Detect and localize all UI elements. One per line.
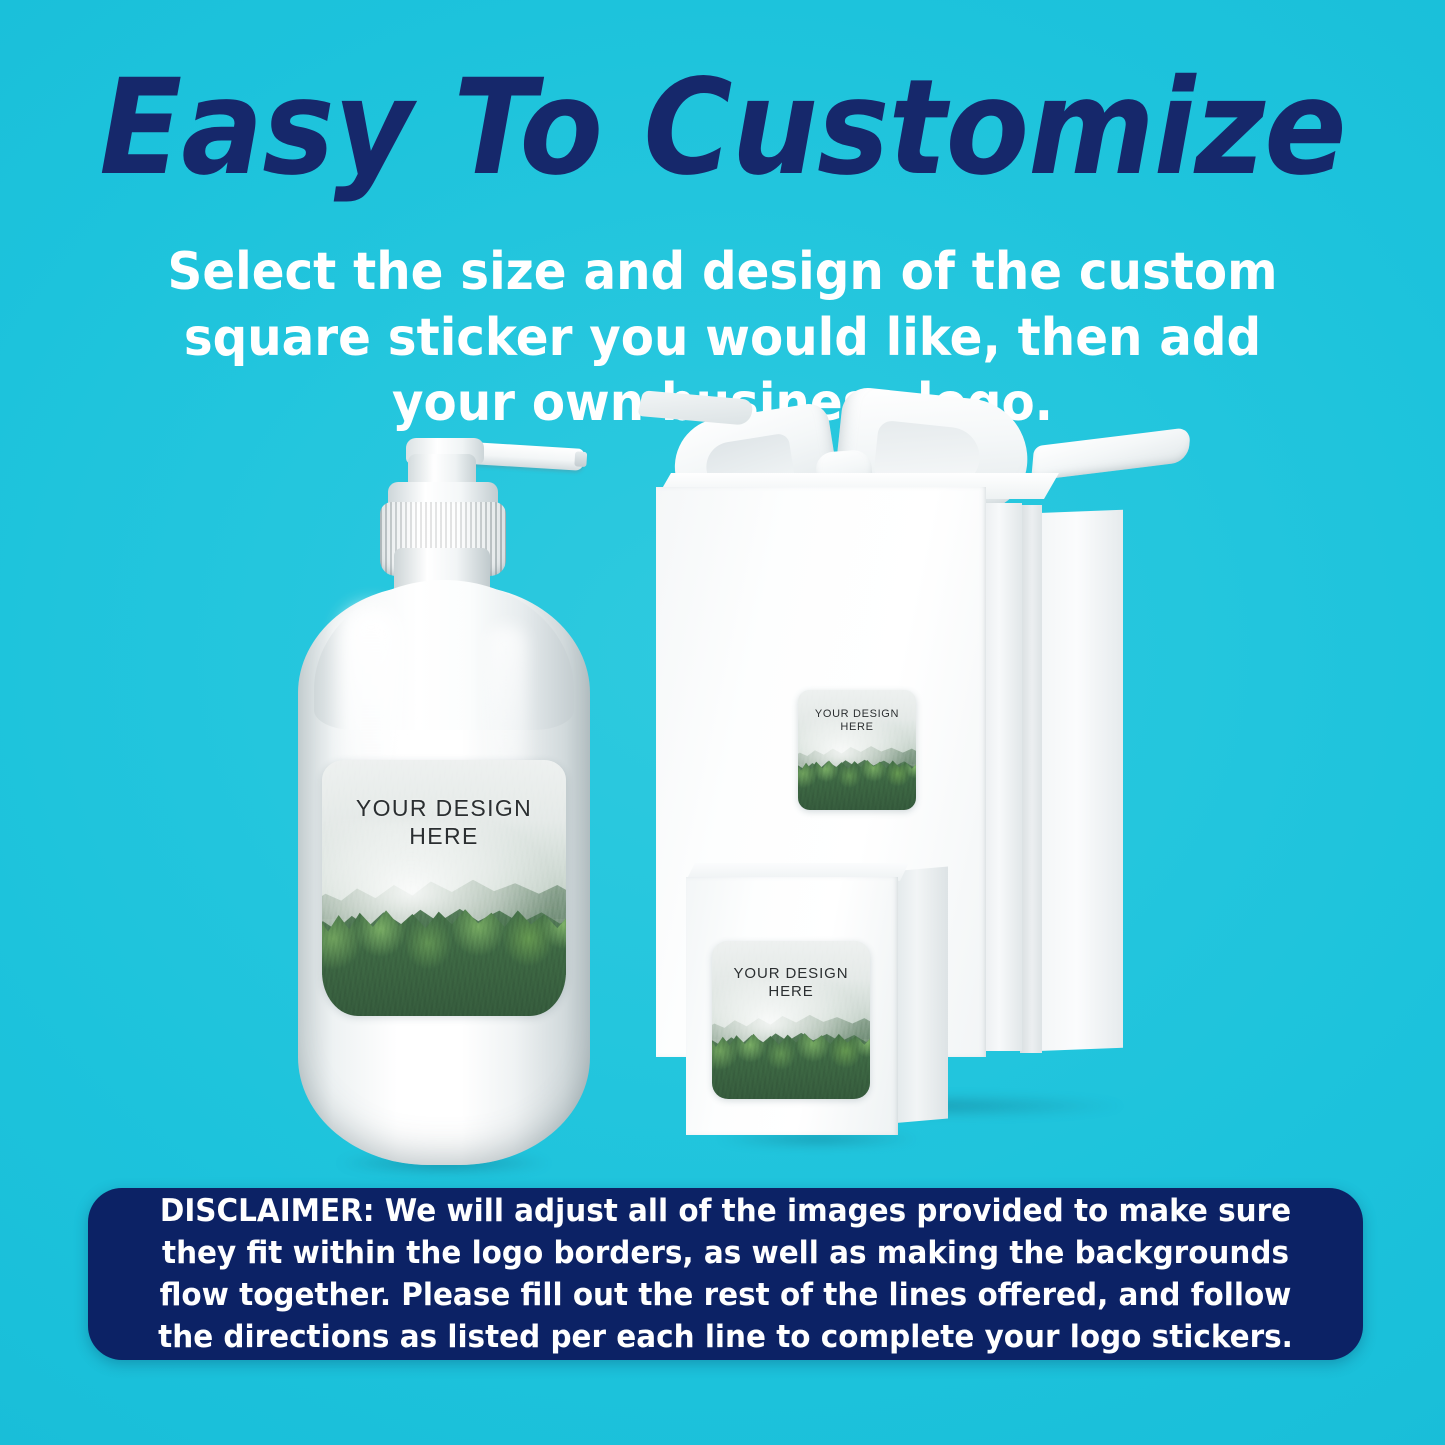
gift-box-panel-side: [984, 503, 1022, 1051]
sticker-caption-line2: HERE: [322, 822, 566, 850]
sticker-caption: YOUR DESIGN HERE: [798, 708, 916, 735]
sticker-caption-line1: YOUR DESIGN: [798, 708, 916, 721]
pump-bottle-mockup: YOUR DESIGN HERE: [288, 430, 598, 1170]
cube-box-mockup: YOUR DESIGN HERE: [672, 855, 962, 1145]
gift-box-panel-edge: [1020, 505, 1042, 1053]
disclaimer-text: DISCLAIMER: We will adjust all of the im…: [120, 1190, 1331, 1359]
page-title: Easy To Customize: [58, 62, 1387, 194]
ribbon-tail-right-secondary: [637, 390, 754, 425]
sticker-caption: YOUR DESIGN HERE: [712, 965, 870, 1002]
sticker-caption-line1: YOUR DESIGN: [322, 794, 566, 822]
sticker-caption: YOUR DESIGN HERE: [322, 794, 566, 850]
cube-box-side: [896, 866, 948, 1123]
promo-graphic: Easy To Customize Select the size and de…: [0, 0, 1445, 1445]
bottle-sticker-label: YOUR DESIGN HERE: [322, 760, 566, 1016]
cube-box-sticker: YOUR DESIGN HERE: [712, 941, 870, 1099]
sticker-caption-line2: HERE: [798, 721, 916, 734]
gift-box-sticker: YOUR DESIGN HERE: [798, 690, 916, 810]
sticker-caption-line1: YOUR DESIGN: [712, 965, 870, 983]
gift-box-panel-back: [1039, 510, 1123, 1051]
sticker-caption-line2: HERE: [712, 983, 870, 1001]
disclaimer-banner: DISCLAIMER: We will adjust all of the im…: [88, 1188, 1363, 1360]
